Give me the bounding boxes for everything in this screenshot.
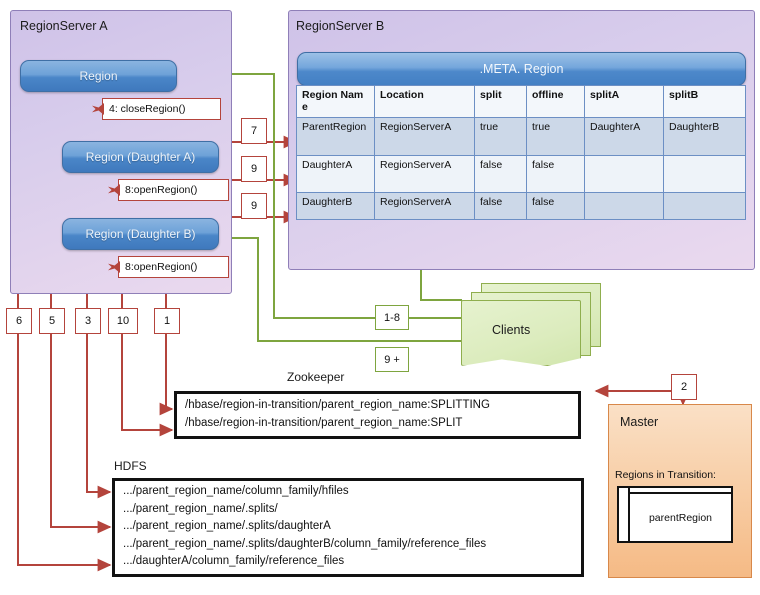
col-location: Location [375,86,475,118]
region-server-a-title: RegionServer A [20,19,108,33]
region-server-b-title: RegionServer B [296,19,384,33]
hdfs-path-4: .../parent_region_name/.splits/daughterB… [123,539,573,551]
step-number-2: 2 [671,374,697,400]
hdfs-path-2: .../parent_region_name/.splits/ [123,504,573,516]
zookeeper-box: /hbase/region-in-transition/parent_regio… [174,391,581,439]
step-number-1-8-label: 1-8 [384,312,400,324]
diagram-canvas: RegionServer A Region 4: closeRegion() R… [0,0,760,595]
zookeeper-path-split: /hbase/region-in-transition/parent_regio… [185,418,570,430]
meta-region-header: .META. Region [297,52,746,86]
callout-close-region: 4: closeRegion() [102,98,221,120]
region-parent-label: Region [79,69,117,83]
cell-splitb [664,155,746,192]
step-number-3: 3 [75,308,101,334]
cell-splitb [664,192,746,219]
step-number-10-label: 10 [117,315,129,327]
step-number-6: 6 [6,308,32,334]
rit-entry: parentRegion [630,492,731,541]
region-daughter-a-box[interactable]: Region (Daughter A) [62,141,219,173]
step-number-7-label: 7 [251,125,257,137]
step-number-6-label: 6 [16,315,22,327]
step-number-9-b-label: 9 [251,200,257,212]
hdfs-path-5: .../daughterA/column_family/reference_fi… [123,556,573,568]
region-daughter-b-label: Region (Daughter B) [85,227,195,241]
step-number-9-b: 9 [241,193,267,219]
table-header-row: Region Name Location split offline split… [297,86,746,118]
step-number-5: 5 [39,308,65,334]
step-number-9-plus-label: 9 + [384,354,400,366]
step-number-7: 7 [241,118,267,144]
step-number-2-label: 2 [681,381,687,393]
step-number-9-a: 9 [241,156,267,182]
callout-close-region-label: 4: closeRegion() [109,103,185,115]
step-number-5-label: 5 [49,315,55,327]
step-number-1-label: 1 [164,315,170,327]
region-daughter-a-label: Region (Daughter A) [86,150,195,164]
cell-split: false [475,192,527,219]
step-number-1: 1 [154,308,180,334]
cell-splita [585,155,664,192]
rit-gutter [619,488,630,541]
col-splitb: splitB [664,86,746,118]
hdfs-box: .../parent_region_name/column_family/hfi… [112,478,584,577]
clients-label: Clients [492,323,530,337]
col-split: split [475,86,527,118]
cell-region-name: ParentRegion [297,117,375,155]
step-number-3-label: 3 [85,315,91,327]
cell-split: false [475,155,527,192]
table-row: ParentRegion RegionServerA true true Dau… [297,117,746,155]
cell-region-name: DaughterA [297,155,375,192]
step-number-9-plus: 9 + [375,347,409,372]
regions-in-transition-table: parentRegion [617,486,733,543]
step-number-9-a-label: 9 [251,163,257,175]
zookeeper-path-splitting: /hbase/region-in-transition/parent_regio… [185,400,570,412]
hdfs-path-1: .../parent_region_name/column_family/hfi… [123,486,573,498]
callout-open-region-a-label: 8:openRegion() [125,184,197,196]
table-row: DaughterA RegionServerA false false [297,155,746,192]
cell-offline: false [527,155,585,192]
col-region-name: Region Name [297,86,375,118]
cell-splita: DaughterA [585,117,664,155]
col-offline: offline [527,86,585,118]
meta-region-table: Region Name Location split offline split… [296,85,746,220]
cell-split: true [475,117,527,155]
step-number-10: 10 [108,308,138,334]
step-number-1-8: 1-8 [375,305,409,330]
cell-location: RegionServerA [375,117,475,155]
hdfs-path-3: .../parent_region_name/.splits/daughterA [123,521,573,533]
regions-in-transition-label: Regions in Transition: [615,469,716,481]
callout-open-region-b-label: 8:openRegion() [125,261,197,273]
region-daughter-b-box[interactable]: Region (Daughter B) [62,218,219,250]
cell-location: RegionServerA [375,155,475,192]
meta-region-header-label: .META. Region [480,62,564,76]
table-row: DaughterB RegionServerA false false [297,192,746,219]
cell-location: RegionServerA [375,192,475,219]
col-splita: splitA [585,86,664,118]
region-parent-box[interactable]: Region [20,60,177,92]
cell-offline: false [527,192,585,219]
cell-splitb: DaughterB [664,117,746,155]
cell-offline: true [527,117,585,155]
hdfs-label: HDFS [114,459,147,473]
callout-open-region-a: 8:openRegion() [118,179,229,201]
callout-open-region-b: 8:openRegion() [118,256,229,278]
cell-region-name: DaughterB [297,192,375,219]
cell-splita [585,192,664,219]
master-title: Master [620,415,658,429]
zookeeper-label: Zookeeper [287,370,344,384]
